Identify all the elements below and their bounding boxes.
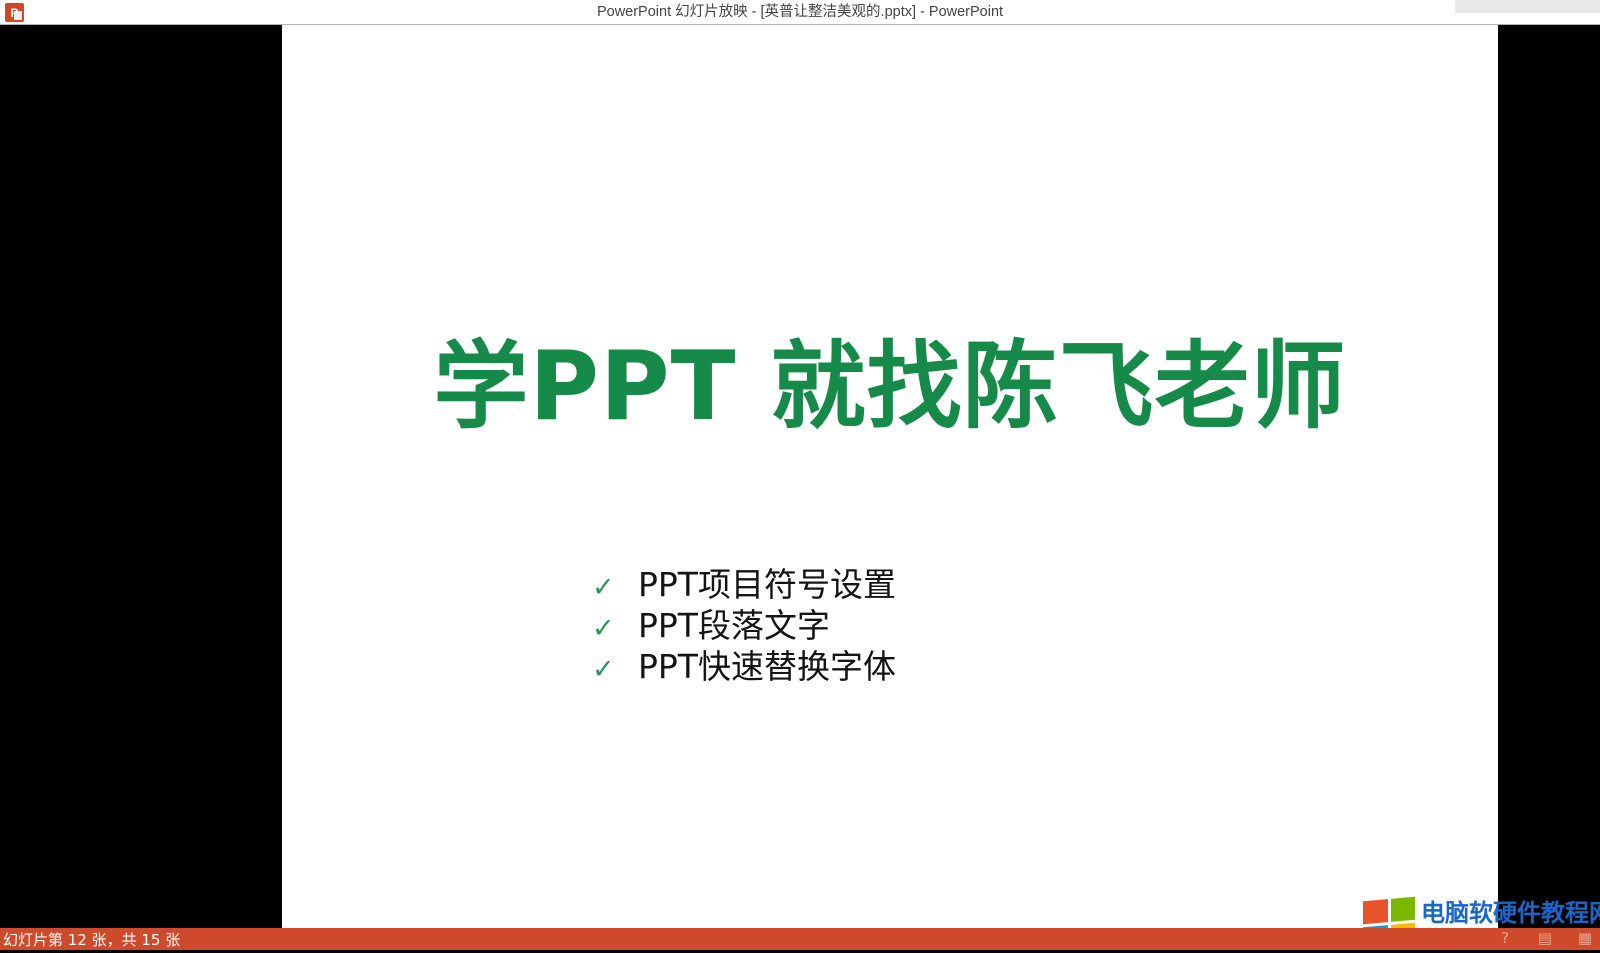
slideshow-stage[interactable]: 学PPT 就找陈飞老师 ✓ PPT项目符号设置 ✓ PPT段落文字 ✓ PPT快… — [0, 25, 1600, 928]
status-bar-icons: ? ▤ ▦ — [1496, 929, 1594, 947]
options-icon[interactable]: ▦ — [1576, 929, 1594, 947]
checkmark-icon: ✓ — [592, 568, 638, 608]
slide-counter: 幻灯片第 12 张，共 15 张 — [3, 929, 180, 950]
list-item: ✓ PPT段落文字 — [592, 606, 1292, 646]
slide-canvas[interactable]: 学PPT 就找陈飞老师 ✓ PPT项目符号设置 ✓ PPT段落文字 ✓ PPT快… — [282, 25, 1498, 928]
list-item-label: PPT段落文字 — [638, 606, 830, 646]
powerpoint-slideshow-window: P PowerPoint 幻灯片放映 - [英普让整洁美观的.pptx] - P… — [0, 0, 1600, 950]
notes-icon[interactable]: ▤ — [1536, 929, 1554, 947]
list-item-label: PPT项目符号设置 — [638, 565, 896, 605]
window-title: PowerPoint 幻灯片放映 - [英普让整洁美观的.pptx] - Pow… — [0, 0, 1600, 25]
checkmark-icon: ✓ — [592, 650, 638, 690]
slide-heading: 学PPT 就找陈飞老师 — [282, 335, 1498, 440]
logo-quadrant-red — [1363, 899, 1388, 924]
slide-bullet-list: ✓ PPT项目符号设置 ✓ PPT段落文字 ✓ PPT快速替换字体 — [592, 565, 1292, 688]
list-item-label: PPT快速替换字体 — [638, 647, 896, 687]
help-icon[interactable]: ? — [1496, 929, 1514, 947]
list-item: ✓ PPT快速替换字体 — [592, 647, 1292, 687]
watermark-site-name: 电脑软硬件教程网 — [1421, 901, 1600, 926]
logo-quadrant-green — [1391, 897, 1416, 922]
window-titlebar: P PowerPoint 幻灯片放映 - [英普让整洁美观的.pptx] - P… — [0, 0, 1600, 25]
checkmark-icon: ✓ — [592, 609, 638, 649]
window-controls[interactable] — [1455, 0, 1600, 13]
list-item: ✓ PPT项目符号设置 — [592, 565, 1292, 605]
status-bar: 幻灯片第 12 张，共 15 张 ? ▤ ▦ — [0, 928, 1600, 950]
